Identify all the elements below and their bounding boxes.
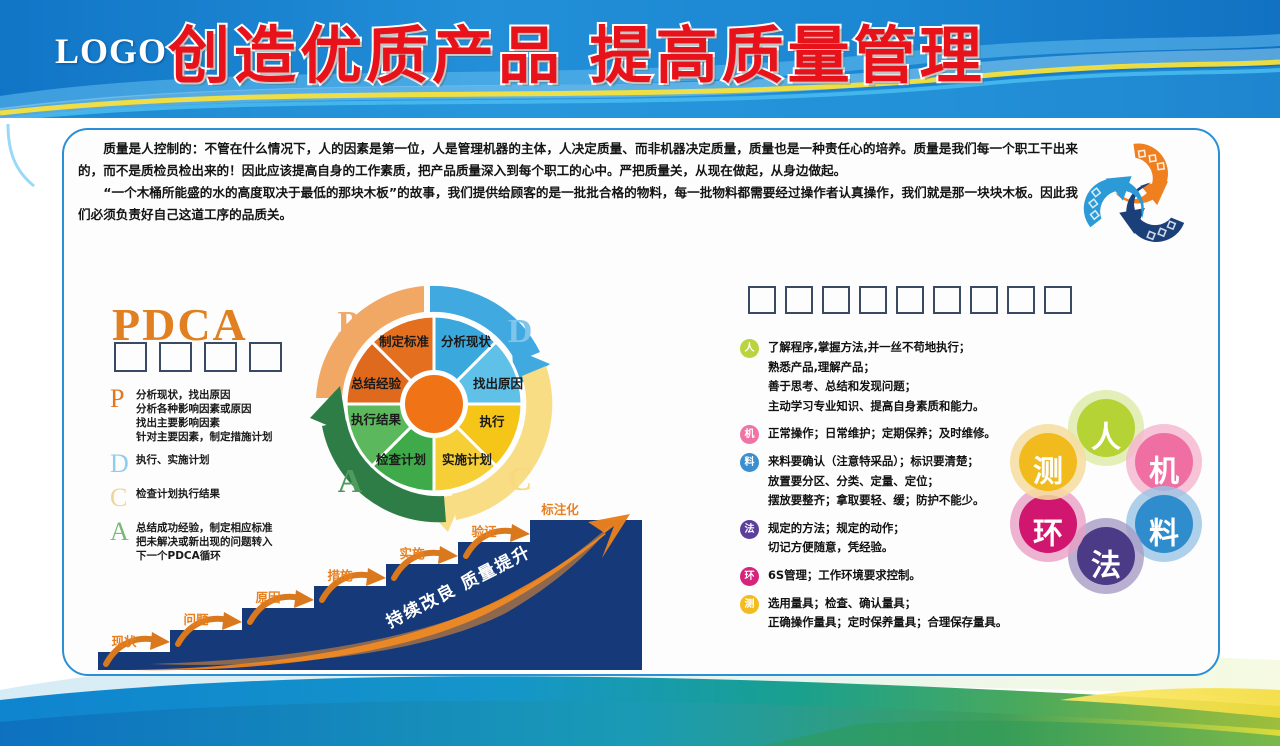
stair-label: 实施 — [399, 546, 425, 561]
factor-line: 了解程序,掌握方法,并一丝不苟地执行； — [768, 338, 984, 358]
factor-line: 选用量具；检查、确认量具； — [768, 594, 1007, 614]
logo-text: LOGO — [55, 30, 167, 72]
wheel-outer-label-a: A — [338, 463, 363, 500]
pdca-blank-box[interactable] — [249, 342, 282, 372]
factor-badge-huan: 环 — [740, 567, 759, 586]
factor-text-ren: 了解程序,掌握方法,并一丝不苟地执行； 熟悉产品,理解产品； 善于思考、总结和发… — [768, 338, 984, 416]
factor-badge-ren: 人 — [740, 339, 759, 358]
poster-header: LOGO 创造优质产品 提高质量管理 — [0, 0, 1280, 120]
intro-paragraph-1: 质量是人控制的：不管在什么情况下，人的因素是第一位，人是管理机器的主体，人决定质… — [78, 138, 1078, 182]
factor-line: 放置要分区、分类、定量、定位； — [768, 472, 984, 492]
factor-badge-ji: 机 — [740, 425, 759, 444]
section-blank-box[interactable] — [822, 286, 850, 314]
wheel-label: 总结经验 — [351, 376, 402, 391]
pdca-letter-d: D — [110, 453, 136, 475]
wheel-outer-label-p: P — [338, 305, 359, 342]
factor-text-ji: 正常操作；日常维护；定期保养；及时维修。 — [768, 424, 996, 444]
pdca-blank-box[interactable] — [114, 342, 147, 372]
factor-line: 善于思考、总结和发现问题； — [768, 377, 984, 397]
flower-label-fa: 法 — [1091, 549, 1121, 584]
section-blank-box[interactable] — [970, 286, 998, 314]
section-blank-box[interactable] — [1007, 286, 1035, 314]
wheel-outer-label-d: D — [508, 313, 533, 350]
factor-line: 正确操作量具；定时保养量具；合理保存量具。 — [768, 613, 1007, 633]
flower-label-liao: 料 — [1149, 517, 1179, 552]
pdca-desc-line: 分析各种影响因素或原因 — [136, 402, 273, 416]
factor-text-fa: 规定的方法；规定的动作； 切记方便随意，凭经验。 — [768, 519, 905, 558]
factor-line: 熟悉产品,理解产品； — [768, 358, 984, 378]
pdca-desc-line: 分析现状，找出原因 — [136, 388, 273, 402]
content-card: 质量是人控制的：不管在什么情况下，人的因素是第一位，人是管理机器的主体，人决定质… — [62, 128, 1220, 676]
improvement-staircase-diagram: 现状 问题 原因 措施 实施 验证 标注化 持续改良 质量提升 — [90, 500, 650, 676]
pdca-desc-line: 执行、实施计划 — [136, 453, 210, 467]
stair-label: 问题 — [183, 612, 209, 627]
wheel-label: 找出原因 — [473, 376, 523, 391]
wheel-label: 执行 — [479, 414, 505, 429]
factor-badge-fa: 法 — [740, 520, 759, 539]
flower-label-ren: 人 — [1091, 421, 1121, 456]
wheel-label: 制定标准 — [379, 334, 430, 349]
stair-label: 标注化 — [540, 502, 579, 517]
factor-line: 来料要确认（注意特采品）；标识要清楚； — [768, 452, 984, 472]
quality-poster: LOGO 创造优质产品 提高质量管理 质量是人控制的：不管在什么情况下，人的因素… — [0, 0, 1280, 746]
5m1e-circle-cluster: 人 机 料 法 环 测 — [1000, 388, 1212, 596]
wheel-label: 执行结果 — [351, 412, 402, 427]
factor-line: 正常操作；日常维护；定期保养；及时维修。 — [768, 424, 996, 444]
wheel-label: 分析现状 — [441, 334, 492, 349]
flower-label-ce: 测 — [1033, 455, 1063, 490]
factor-text-ce: 选用量具；检查、确认量具； 正确操作量具；定时保养量具；合理保存量具。 — [768, 594, 1007, 633]
stair-label: 现状 — [111, 634, 137, 649]
factor-text-huan: 6S管理；工作环境要求控制。 — [768, 566, 921, 586]
stair-label: 原因 — [255, 590, 280, 605]
wheel-outer-label-c: C — [508, 461, 533, 498]
factor-line: 摆放要整齐；拿取要轻、缓；防护不能少。 — [768, 491, 984, 511]
section-blank-box[interactable] — [859, 286, 887, 314]
pdca-blank-box[interactable] — [159, 342, 192, 372]
factor-line: 规定的方法；规定的动作； — [768, 519, 905, 539]
pdca-desc-c: 检查计划执行结果 — [136, 487, 220, 501]
pdca-desc-line: 检查计划执行结果 — [136, 487, 220, 501]
flower-label-ji: 机 — [1149, 455, 1179, 490]
factor-text-liao: 来料要确认（注意特采品）；标识要清楚； 放置要分区、分类、定量、定位； 摆放要整… — [768, 452, 984, 511]
pdca-letter-p: P — [110, 388, 136, 410]
factor-line: 6S管理；工作环境要求控制。 — [768, 566, 921, 586]
pdca-desc-p: 分析现状，找出原因 分析各种影响因素或原因 找出主要影响因素 针对主要因素，制定… — [136, 388, 273, 444]
stair-label: 措施 — [327, 568, 353, 583]
intro-paragraph-2: “一个木桶所能盛的水的高度取决于最低的那块木板”的故事，我们提供给顾客的是一批批… — [78, 182, 1078, 226]
section-blank-box[interactable] — [748, 286, 776, 314]
intro-paragraphs: 质量是人控制的：不管在什么情况下，人的因素是第一位，人是管理机器的主体，人决定质… — [78, 138, 1078, 226]
factor-badge-liao: 料 — [740, 453, 759, 472]
section-blank-box[interactable] — [896, 286, 924, 314]
wheel-label: 检查计划 — [376, 452, 426, 467]
page-title: 创造优质产品 提高质量管理 — [168, 13, 1228, 99]
pdca-desc-line: 找出主要影响因素 — [136, 416, 273, 430]
pdca-desc-d: 执行、实施计划 — [136, 453, 210, 467]
section-blank-box[interactable] — [933, 286, 961, 314]
stair-label: 验证 — [471, 524, 497, 539]
factor-item-ce: 测 选用量具；检查、确认量具； 正确操作量具；定时保养量具；合理保存量具。 — [740, 594, 1160, 633]
wheel-hub — [405, 375, 463, 433]
factor-line: 主动学习专业知识、提高自身素质和能力。 — [768, 397, 984, 417]
flower-label-huan: 环 — [1033, 517, 1063, 552]
pdca-blank-boxes — [114, 342, 282, 372]
section-blank-boxes — [748, 286, 1072, 314]
three-arrow-cycle-icon — [1072, 138, 1200, 264]
wheel-label: 实施计划 — [442, 452, 492, 467]
factor-badge-ce: 测 — [740, 595, 759, 614]
factor-line: 切记方便随意，凭经验。 — [768, 538, 905, 558]
section-blank-box[interactable] — [785, 286, 813, 314]
pdca-blank-box[interactable] — [204, 342, 237, 372]
section-blank-box[interactable] — [1044, 286, 1072, 314]
pdca-desc-line: 针对主要因素，制定措施计划 — [136, 430, 273, 444]
